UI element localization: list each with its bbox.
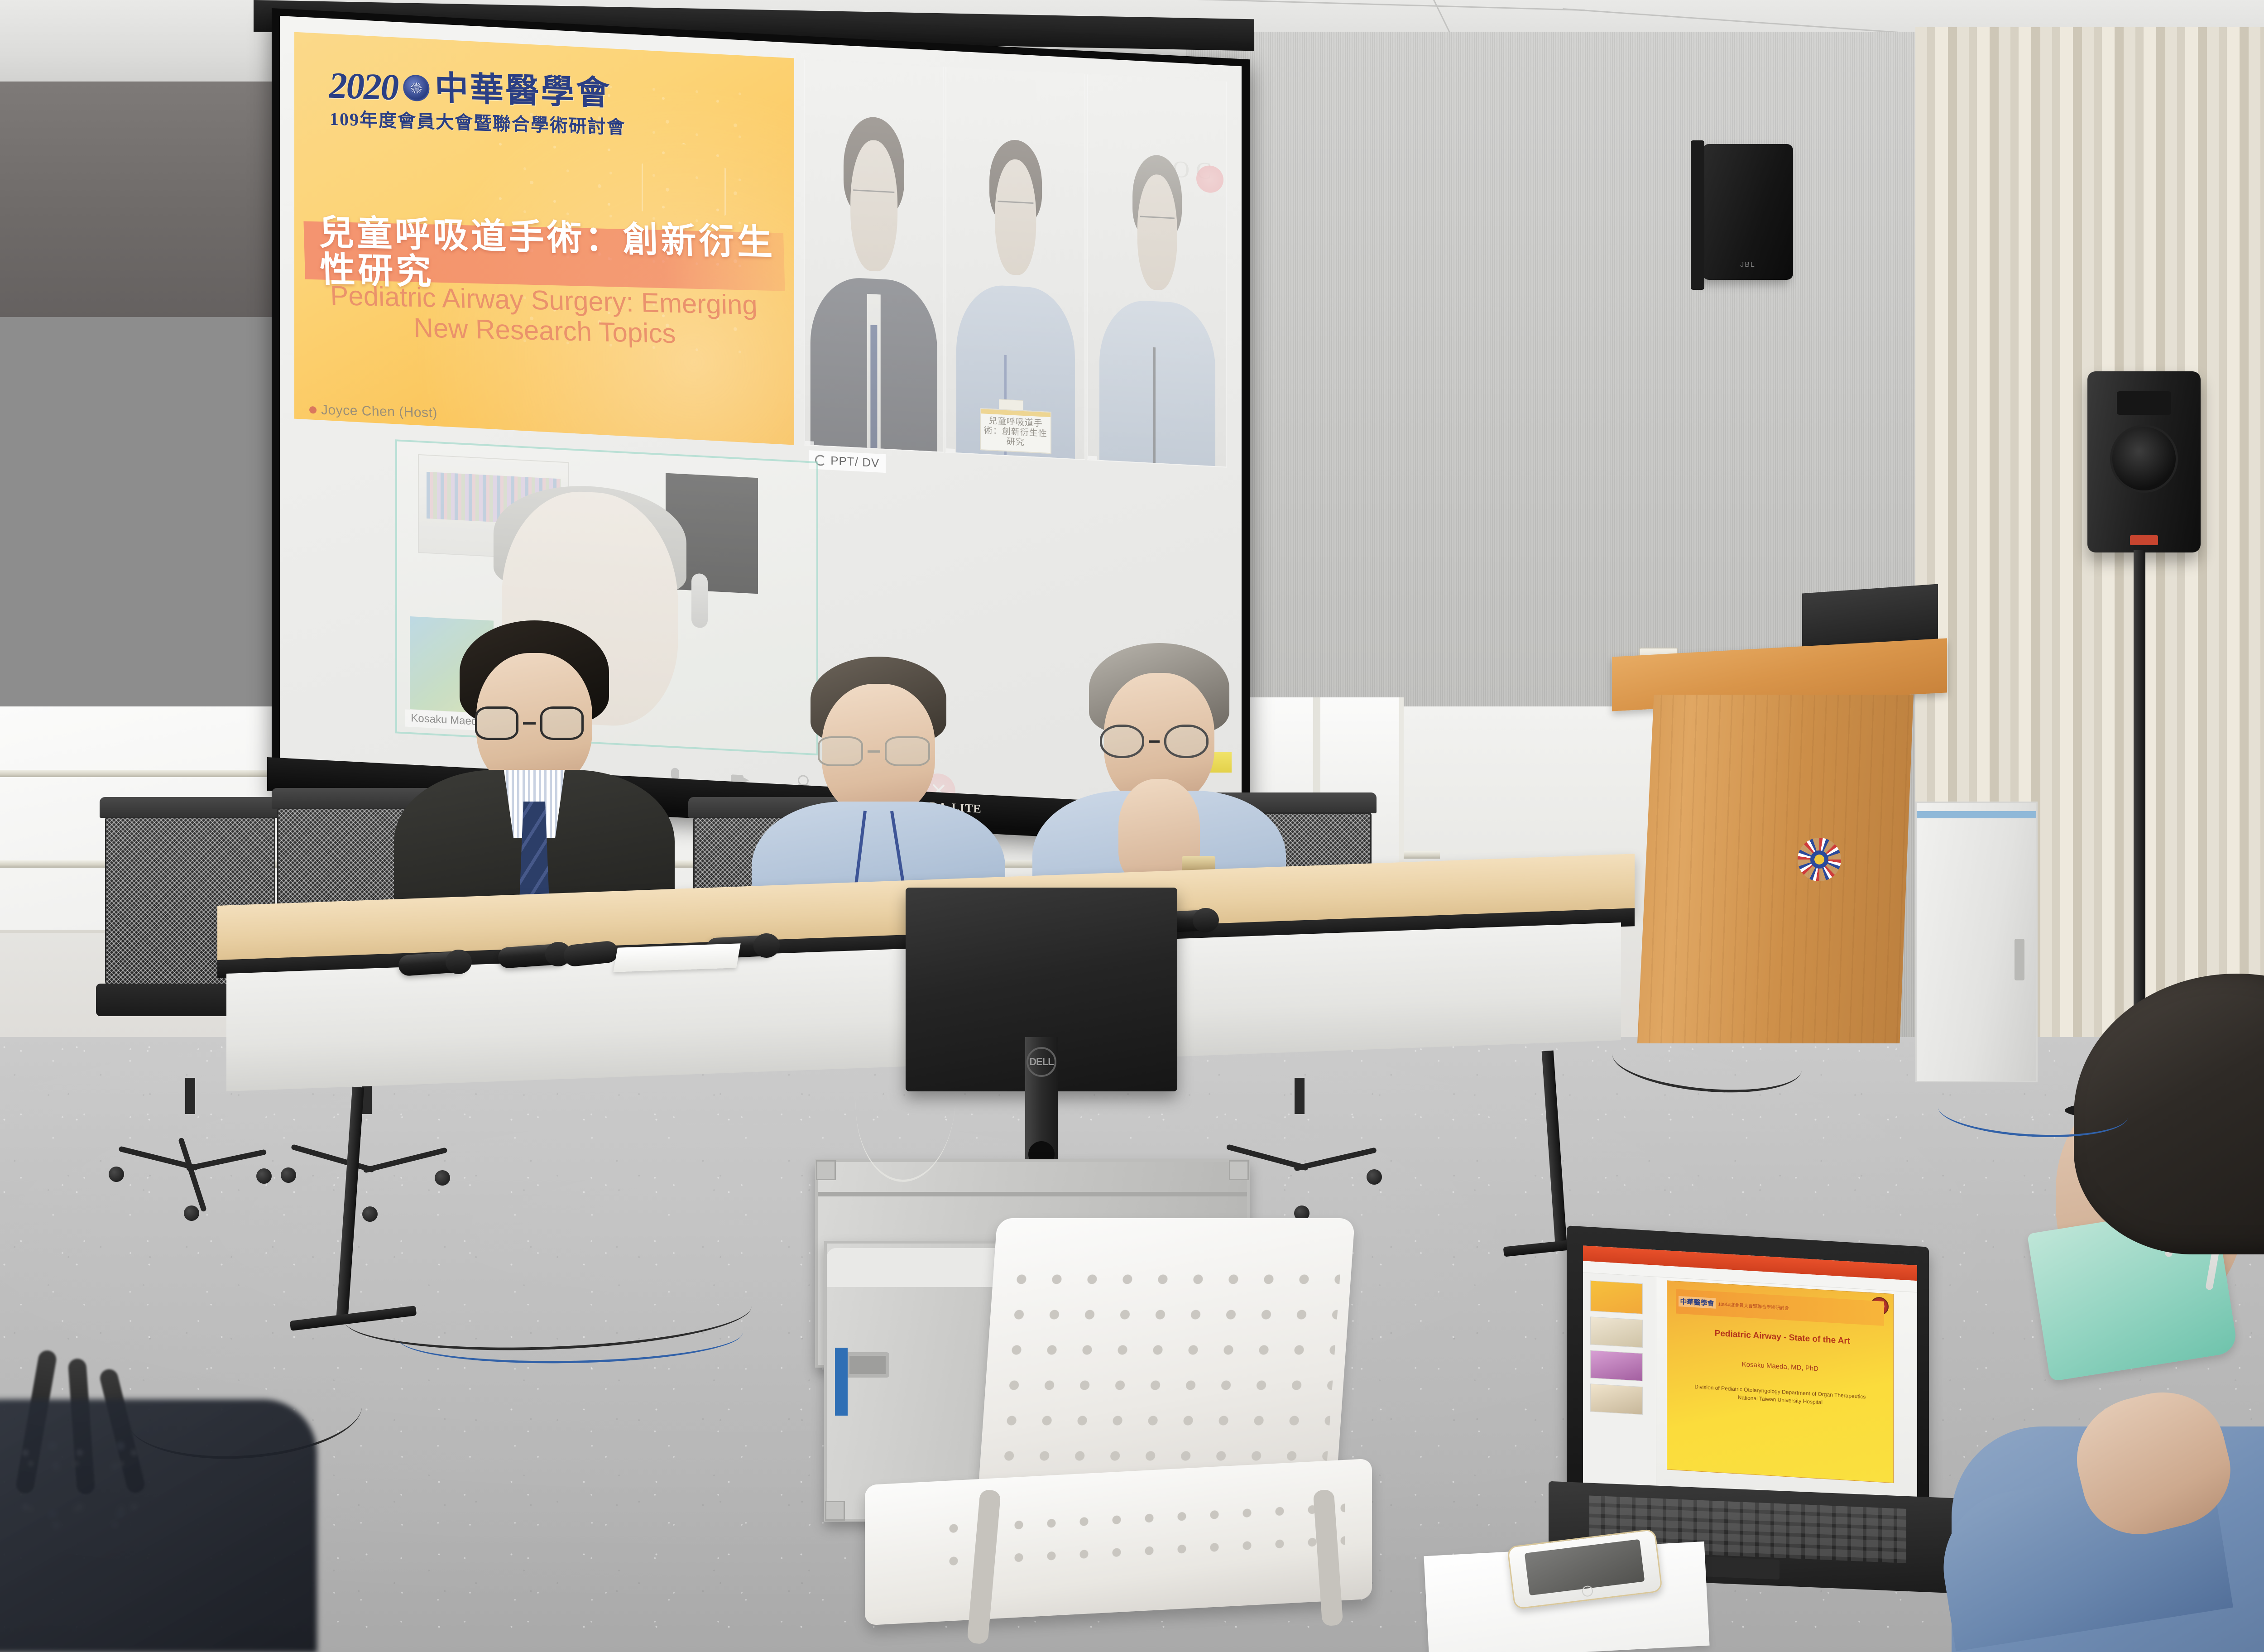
slide-title-english: Pediatric Airway Surgery: Emerging New R… (318, 280, 770, 351)
video-conference-tiles: 兒童呼吸道手術：創新衍生性研究 ROC (804, 59, 1228, 468)
national-emblem-icon (1798, 838, 1841, 881)
video-tile-label (946, 448, 955, 452)
slide-header-en: 109年度會員大會暨聯合學術研討會 (1718, 1300, 1789, 1311)
video-tile-participant[interactable]: ROC (1087, 74, 1227, 468)
slide-year: 2020 (329, 69, 398, 104)
conference-room-scene: 2020 中華醫學會 109年度會員大會暨聯合學術研討會 兒童呼吸道手術：創新衍… (0, 0, 2264, 1652)
slide-author: Kosaku Maeda, MD, PhD (1689, 1358, 1871, 1376)
slide-organization: 中華醫學會 (435, 73, 612, 110)
slide-thumbnail[interactable] (1590, 1280, 1643, 1314)
video-tile-participant[interactable] (804, 59, 944, 453)
video-tile-label (805, 441, 814, 445)
video-tile-label (1088, 456, 1097, 460)
slide-header-zh: 中華醫學會 (1679, 1296, 1715, 1309)
slide-header: 中華醫學會 109年度會員大會暨聯合學術研討會 (1676, 1289, 1884, 1325)
host-name: Joyce Chen (Host) (321, 402, 438, 421)
eyeglasses-icon (475, 706, 594, 740)
chair-seat (865, 1459, 1372, 1626)
lectern (1630, 648, 1929, 1046)
slide-thumbnail[interactable] (1590, 1383, 1643, 1415)
eyeglasses-icon (1100, 725, 1218, 758)
handheld-microphone[interactable] (398, 951, 467, 976)
video-tile-participant[interactable]: 兒童呼吸道手術：創新衍生性研究 (945, 66, 1085, 460)
association-emblem-icon (403, 75, 430, 102)
table-placard: 兒童呼吸道手術：創新衍生性研究 (980, 408, 1052, 454)
chair-base (104, 1078, 276, 1227)
screen-share-indicator: PPT/ DV (809, 451, 886, 473)
slide-thumbnail[interactable] (1590, 1350, 1643, 1381)
slide-title: Pediatric Airway - State of the Art (1685, 1327, 1880, 1348)
foreground-bag (0, 1399, 317, 1652)
presentation-slide: 2020 中華醫學會 109年度會員大會暨聯合學術研討會 兒童呼吸道手術：創新衍… (294, 32, 794, 445)
paper-stack[interactable] (613, 943, 740, 972)
headset-icon (691, 573, 708, 628)
laptop-screen[interactable]: 中華醫學會 109年度會員大會暨聯合學術研討會 Pediatric Airway… (1583, 1245, 1917, 1508)
slide-host-label: Joyce Chen (Host) (309, 402, 438, 421)
auditorium-chair[interactable] (838, 1218, 1399, 1652)
eyeglasses-icon (818, 736, 939, 766)
current-slide: 中華醫學會 109年度會員大會暨聯合學術研討會 Pediatric Airway… (1667, 1280, 1894, 1483)
wall-speaker: JBL (1703, 144, 1793, 280)
foreground-attendee (1924, 974, 2264, 1652)
chair-base (281, 1078, 453, 1227)
speaker-brand-label: JBL (1740, 261, 1756, 269)
slide-thumbnail[interactable] (1590, 1316, 1643, 1348)
floor-speaker (2087, 371, 2201, 552)
handheld-microphone[interactable] (498, 943, 567, 969)
recording-indicator-icon (1196, 165, 1223, 193)
slide-thumbnail-rail[interactable] (1583, 1273, 1656, 1493)
lectern-body (1637, 695, 1914, 1043)
host-dot-icon (309, 406, 317, 413)
slide-affiliation: Division of Pediatric Otolaryngology Dep… (1694, 1382, 1866, 1409)
share-source-label: PPT/ DV (830, 454, 879, 471)
placard-text: 兒童呼吸道手術：創新衍生性研究 (983, 416, 1049, 449)
speaker-brand-badge (2130, 535, 2158, 545)
slide-logo-block: 2020 中華醫學會 109年度會員大會暨聯合學術研討會 (329, 69, 690, 141)
dell-logo: DELL (1026, 1047, 1056, 1077)
laptop-lid: 中華醫學會 109年度會員大會暨聯合學術研討會 Pediatric Airway… (1567, 1225, 1929, 1519)
